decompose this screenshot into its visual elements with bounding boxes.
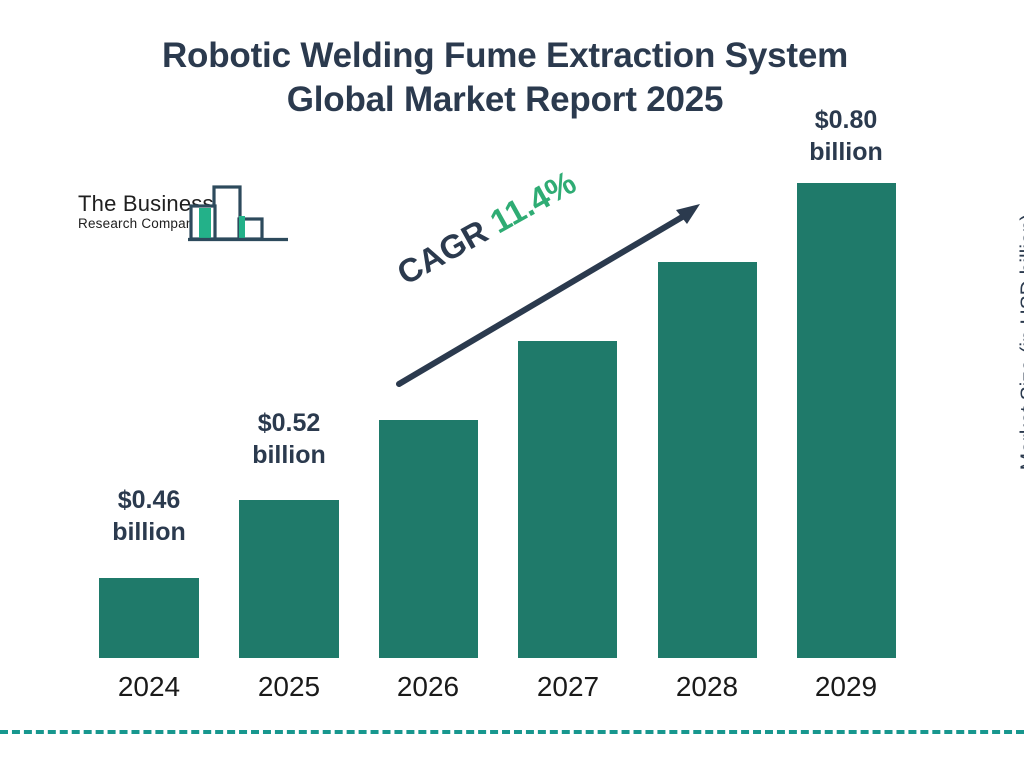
x-tick-2024: 2024 xyxy=(74,671,224,703)
cagr-label-text: CAGR xyxy=(391,212,494,291)
x-tick-2025: 2025 xyxy=(214,671,364,703)
bar-label-2025-value: $0.52 xyxy=(258,409,321,437)
bar-2028 xyxy=(658,262,757,658)
bar-2029 xyxy=(797,183,896,658)
footer-divider xyxy=(0,730,1024,734)
y-axis-title: Market Size (in USD billion) xyxy=(1017,182,1024,502)
chart-page: Robotic Welding Fume Extraction System G… xyxy=(0,0,1024,768)
bar-label-2029-unit: billion xyxy=(809,138,883,166)
bar-2027 xyxy=(518,341,617,658)
bar-2024 xyxy=(99,578,199,658)
bar-label-2029-value: $0.80 xyxy=(815,106,878,134)
cagr-value-text: 11.4% xyxy=(484,163,582,240)
cagr-annotation: CAGR 11.4% xyxy=(391,164,582,292)
bar-label-2024-unit: billion xyxy=(112,518,186,546)
bar-label-2029: $0.80 billion xyxy=(771,104,921,168)
bar-2025 xyxy=(239,500,339,658)
x-tick-2029: 2029 xyxy=(771,671,921,703)
x-tick-2028: 2028 xyxy=(632,671,782,703)
bar-2026 xyxy=(379,420,478,658)
x-tick-2027: 2027 xyxy=(493,671,643,703)
bar-label-2024: $0.46 billion xyxy=(74,484,224,548)
bar-label-2025-unit: billion xyxy=(252,441,326,469)
bar-label-2025: $0.52 billion xyxy=(214,407,364,471)
bar-chart-plot-area: $0.46 billion $0.52 billion $0.80 billio… xyxy=(0,0,1024,768)
x-tick-2026: 2026 xyxy=(353,671,503,703)
bar-label-2024-value: $0.46 xyxy=(118,486,181,514)
